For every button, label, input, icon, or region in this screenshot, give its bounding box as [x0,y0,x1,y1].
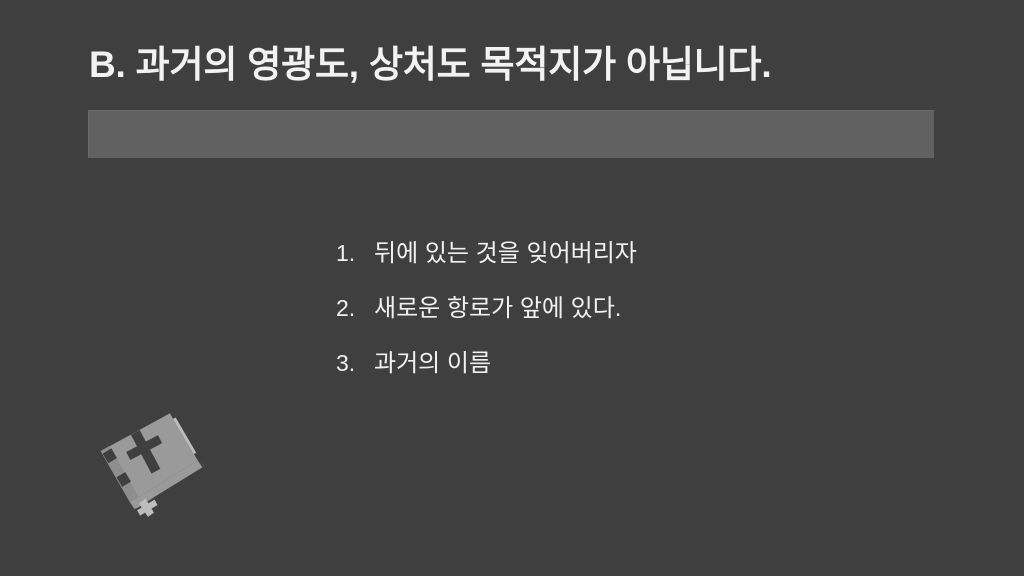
list-item-label: 새로운 항로가 앞에 있다. [374,294,621,324]
presentation-slide: B. 과거의 영광도, 상처도 목적지가 아닙니다. 1. 뒤에 있는 것을 잊… [0,0,1024,576]
list-item-label: 과거의 이름 [374,349,491,379]
list-item-marker: 2. [336,293,374,323]
banner-bar [88,110,934,158]
numbered-list: 1. 뒤에 있는 것을 잊어버리자 2. 새로운 항로가 앞에 있다. 3. 과… [336,238,936,403]
list-item-marker: 3. [336,348,374,378]
bible-book-cross-icon [84,410,224,528]
list-item-label: 뒤에 있는 것을 잊어버리자 [374,239,637,269]
list-item: 3. 과거의 이름 [336,348,936,403]
list-item-marker: 1. [336,238,374,268]
list-item: 2. 새로운 항로가 앞에 있다. [336,293,936,348]
list-item: 1. 뒤에 있는 것을 잊어버리자 [336,238,936,293]
slide-title: B. 과거의 영광도, 상처도 목적지가 아닙니다. [89,42,969,88]
